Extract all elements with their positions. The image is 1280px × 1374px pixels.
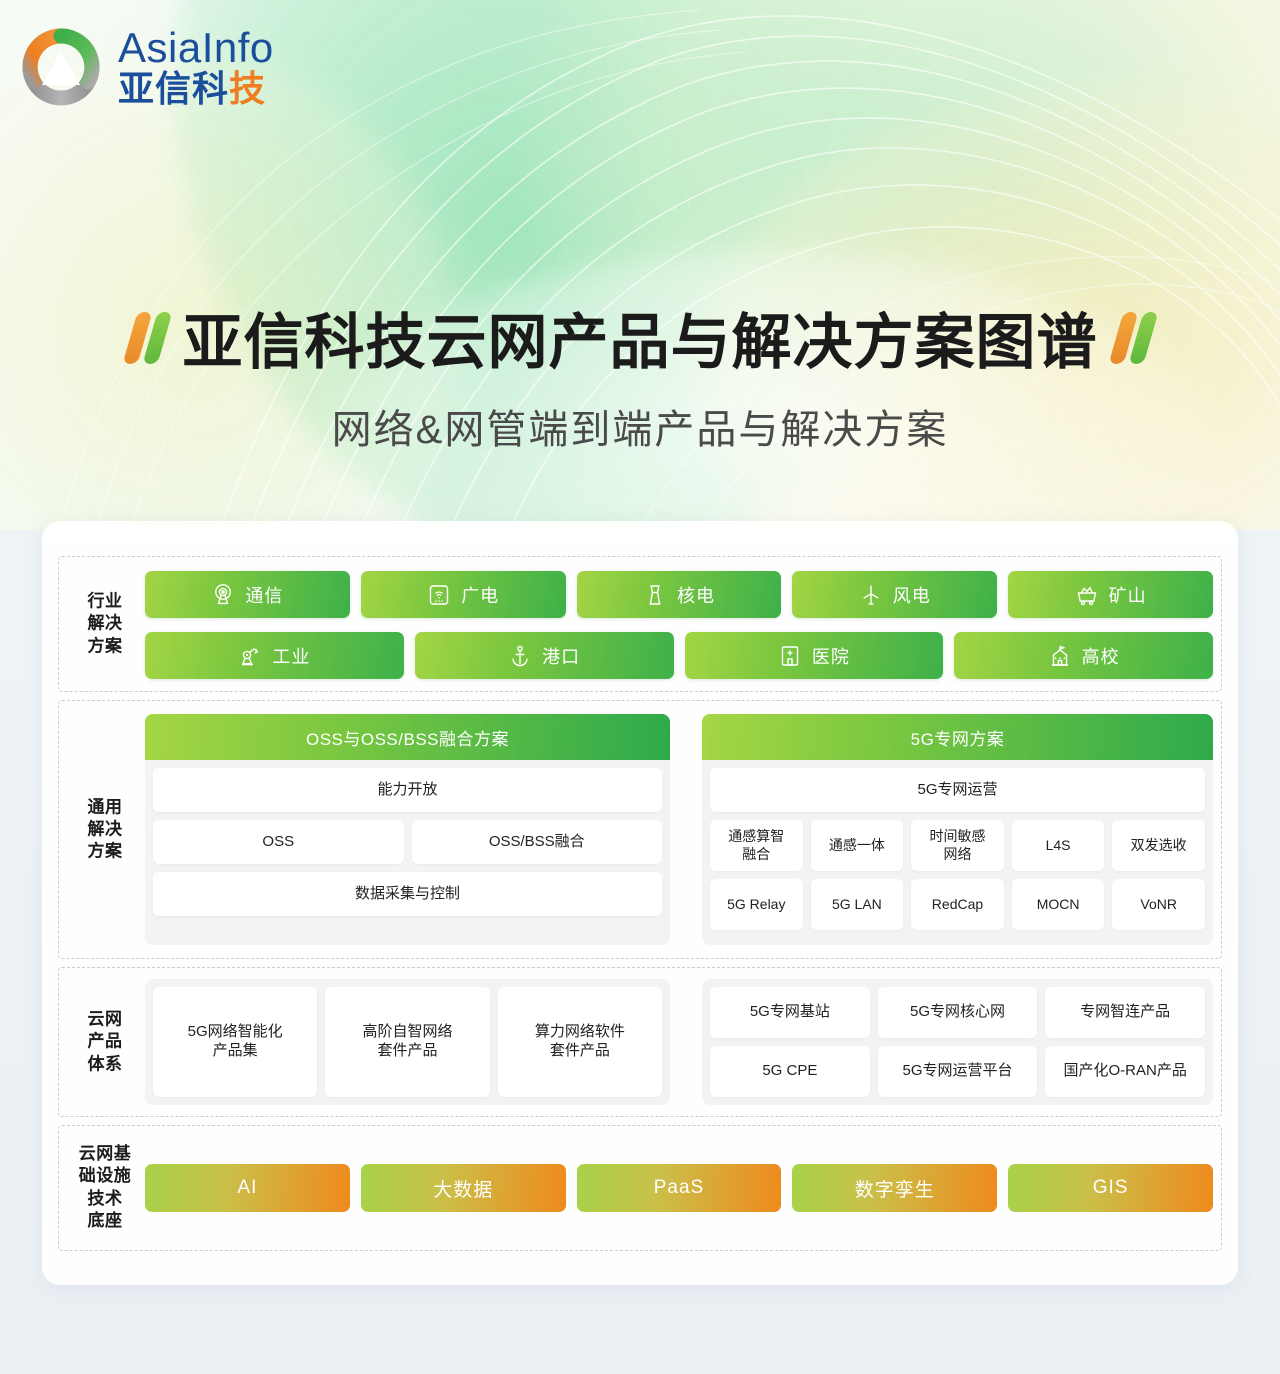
cell-dual-send-select[interactable]: 双发选收 bbox=[1112, 820, 1205, 871]
product-group-right: 5G专网基站 5G专网核心网 专网智连产品 5G CPE 5G专网运营平台 国产… bbox=[702, 979, 1213, 1105]
label-line: 产品 bbox=[71, 1031, 139, 1053]
cell-isac[interactable]: 通感一体 bbox=[811, 820, 904, 871]
panel-title-5g: 5G专网方案 bbox=[702, 714, 1213, 760]
page-title: 亚信科技云网产品与解决方案图谱 bbox=[183, 294, 1098, 381]
router-icon bbox=[427, 583, 451, 607]
poster-root: AsiaInfo 亚信科技 亚信科技云网产品与解决方案图谱 网络&网管端到端产品… bbox=[0, 0, 1280, 1374]
product-row: 5G专网基站 5G专网核心网 专网智连产品 bbox=[710, 987, 1205, 1038]
panel-title-oss: OSS与OSS/BSS融合方案 bbox=[145, 714, 670, 760]
industry-btn-label: 核电 bbox=[677, 582, 715, 608]
label-line: 体系 bbox=[71, 1053, 139, 1075]
label-line: 解决 bbox=[71, 613, 139, 635]
industry-btn-label: 医院 bbox=[812, 643, 850, 669]
section-label-industry: 行业 解决 方案 bbox=[71, 590, 139, 657]
cell-isac-compute-ai[interactable]: 通感算智融合 bbox=[710, 820, 803, 871]
cell-5g-private-operations[interactable]: 5G专网运营 bbox=[710, 768, 1205, 812]
robot-arm-icon bbox=[238, 644, 262, 668]
section-product-system: 云网 产品 体系 5G网络智能化产品集 高阶自智网络套件产品 算力网络软件套件产… bbox=[58, 967, 1222, 1117]
cell-5g-lan[interactable]: 5G LAN bbox=[811, 879, 904, 930]
industry-row-2: 工业 港口 bbox=[145, 632, 1213, 679]
label-line: 解决 bbox=[71, 818, 139, 840]
product-group-left: 5G网络智能化产品集 高阶自智网络套件产品 算力网络软件套件产品 bbox=[145, 979, 670, 1105]
cell-capability-opening[interactable]: 能力开放 bbox=[153, 768, 662, 812]
industry-btn-mining[interactable]: 矿山 bbox=[1008, 571, 1213, 618]
label-line: 方案 bbox=[71, 635, 139, 657]
industry-row-1: 通信 广电 bbox=[145, 571, 1213, 618]
label-line: 云网基 bbox=[71, 1143, 139, 1165]
architecture-card: 行业 解决 方案 通信 bbox=[42, 521, 1238, 1285]
cell-autonomous-network-suite[interactable]: 高阶自智网络套件产品 bbox=[325, 987, 489, 1097]
cell-mocn[interactable]: MOCN bbox=[1012, 879, 1105, 930]
hospital-icon bbox=[778, 644, 802, 668]
industry-btn-wind[interactable]: 风电 bbox=[792, 571, 997, 618]
brand-name-cn: 亚信科技 bbox=[118, 71, 274, 107]
panel-oss-bss: OSS与OSS/BSS融合方案 能力开放 OSS OSS/BSS融合 数据采集与… bbox=[145, 714, 670, 945]
cell-oss[interactable]: OSS bbox=[153, 820, 404, 864]
section-label-general: 通用 解决 方案 bbox=[71, 796, 139, 863]
label-line: 行业 bbox=[71, 590, 139, 612]
panel-row: 5G Relay 5G LAN RedCap MOCN VoNR bbox=[710, 879, 1205, 930]
industry-btn-manufacturing[interactable]: 工业 bbox=[145, 632, 404, 679]
cell-tsn[interactable]: 时间敏感网络 bbox=[911, 820, 1004, 871]
cell-5g-relay[interactable]: 5G Relay bbox=[710, 879, 803, 930]
industry-btn-telecom[interactable]: 通信 bbox=[145, 571, 350, 618]
brand-logo: AsiaInfo 亚信科技 bbox=[18, 24, 274, 110]
industry-btn-nuclear[interactable]: 核电 bbox=[577, 571, 782, 618]
cooling-tower-icon bbox=[643, 583, 667, 607]
industry-btn-label: 工业 bbox=[272, 643, 310, 669]
wind-turbine-icon bbox=[859, 583, 883, 607]
cell-private-smart-connect[interactable]: 专网智连产品 bbox=[1045, 987, 1205, 1038]
cell-vonr[interactable]: VoNR bbox=[1112, 879, 1205, 930]
school-icon bbox=[1048, 644, 1072, 668]
section-label-product: 云网 产品 体系 bbox=[71, 1008, 139, 1075]
industry-btn-label: 广电 bbox=[461, 582, 499, 608]
panel-5g-private-network: 5G专网方案 5G专网运营 通感算智融合 通感一体 时间敏感网络 L4S 双发选… bbox=[702, 714, 1213, 945]
cell-data-collection-control[interactable]: 数据采集与控制 bbox=[153, 872, 662, 916]
cell-redcap[interactable]: RedCap bbox=[911, 879, 1004, 930]
mine-cart-icon bbox=[1075, 583, 1099, 607]
section-industry-solutions: 行业 解决 方案 通信 bbox=[58, 556, 1222, 692]
label-line: 云网 bbox=[71, 1008, 139, 1030]
cell-5g-private-base-station[interactable]: 5G专网基站 bbox=[710, 987, 870, 1038]
base-btn-bigdata[interactable]: 大数据 bbox=[361, 1164, 566, 1212]
page-subtitle: 网络&网管端到端产品与解决方案 bbox=[0, 397, 1280, 455]
base-btn-paas[interactable]: PaaS bbox=[577, 1164, 782, 1212]
base-btn-gis[interactable]: GIS bbox=[1008, 1164, 1213, 1212]
label-line: 技术 bbox=[71, 1188, 139, 1210]
product-row: 5G CPE 5G专网运营平台 国产化O-RAN产品 bbox=[710, 1046, 1205, 1097]
cell-oss-bss-fusion[interactable]: OSS/BSS融合 bbox=[412, 820, 663, 864]
cell-5g-private-core-network[interactable]: 5G专网核心网 bbox=[878, 987, 1038, 1038]
poster-heading: 亚信科技云网产品与解决方案图谱 网络&网管端到端产品与解决方案 bbox=[0, 294, 1280, 455]
base-items-row: AI 大数据 PaaS 数字孪生 GIS bbox=[145, 1164, 1213, 1212]
industry-btn-port[interactable]: 港口 bbox=[415, 632, 674, 679]
industry-btn-university[interactable]: 高校 bbox=[954, 632, 1213, 679]
industry-btn-broadcast[interactable]: 广电 bbox=[361, 571, 566, 618]
label-line: 底座 bbox=[71, 1210, 139, 1232]
decor-slashes-right bbox=[1116, 312, 1151, 364]
industry-btn-hospital[interactable]: 医院 bbox=[685, 632, 944, 679]
cell-domestic-oran-product[interactable]: 国产化O-RAN产品 bbox=[1045, 1046, 1205, 1097]
base-btn-ai[interactable]: AI bbox=[145, 1164, 350, 1212]
section-infrastructure-base: 云网基 础设施 技术 底座 AI 大数据 PaaS 数字孪生 GIS bbox=[58, 1125, 1222, 1251]
industry-btn-label: 风电 bbox=[893, 582, 931, 608]
section-general-solutions: 通用 解决 方案 OSS与OSS/BSS融合方案 能力开放 OSS OSS/BS… bbox=[58, 700, 1222, 959]
brand-name-en: AsiaInfo bbox=[118, 27, 274, 69]
section-label-base: 云网基 础设施 技术 底座 bbox=[71, 1143, 139, 1233]
panel-row: OSS OSS/BSS融合 bbox=[153, 820, 662, 864]
decor-slashes-left bbox=[130, 312, 165, 364]
anchor-icon bbox=[508, 644, 532, 668]
cell-computing-network-suite[interactable]: 算力网络软件套件产品 bbox=[498, 987, 662, 1097]
label-line: 础设施 bbox=[71, 1166, 139, 1188]
cell-5g-private-operations-platform[interactable]: 5G专网运营平台 bbox=[878, 1046, 1038, 1097]
industry-btn-label: 高校 bbox=[1082, 643, 1120, 669]
antenna-icon bbox=[211, 583, 235, 607]
panel-row: 通感算智融合 通感一体 时间敏感网络 L4S 双发选收 bbox=[710, 820, 1205, 871]
asiainfo-ring-icon bbox=[18, 24, 104, 110]
cell-l4s[interactable]: L4S bbox=[1012, 820, 1105, 871]
industry-btn-label: 港口 bbox=[542, 643, 580, 669]
cell-5g-intelligent-product-set[interactable]: 5G网络智能化产品集 bbox=[153, 987, 317, 1097]
industry-btn-label: 通信 bbox=[245, 582, 283, 608]
label-line: 方案 bbox=[71, 841, 139, 863]
base-btn-digital-twin[interactable]: 数字孪生 bbox=[792, 1164, 997, 1212]
label-line: 通用 bbox=[71, 796, 139, 818]
industry-btn-label: 矿山 bbox=[1109, 582, 1147, 608]
cell-5g-cpe[interactable]: 5G CPE bbox=[710, 1046, 870, 1097]
